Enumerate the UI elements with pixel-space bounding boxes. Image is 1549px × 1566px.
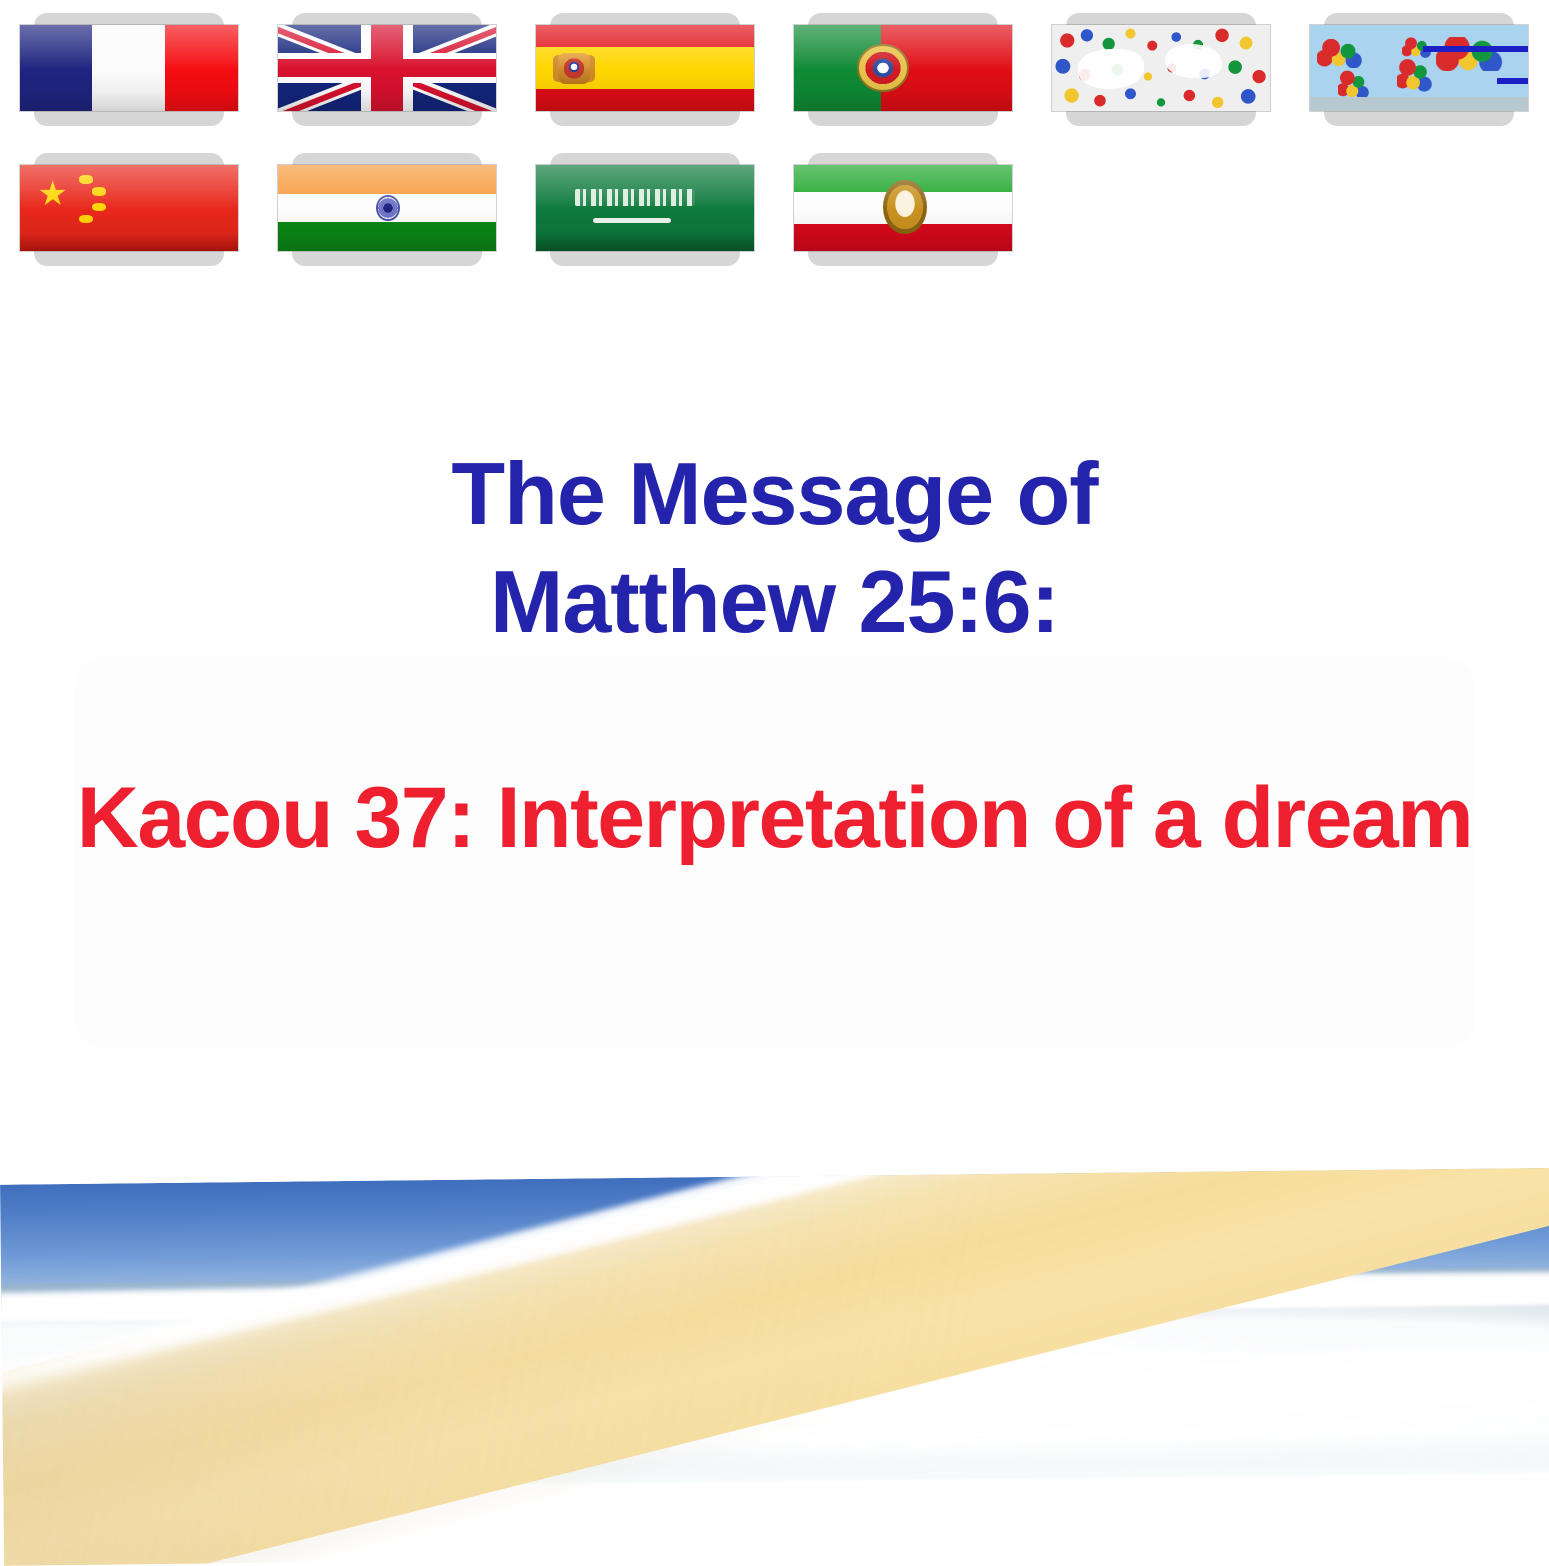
flag-china-icon: ★ (20, 165, 238, 251)
flag-india-icon (278, 165, 496, 251)
world-flags-icon (1052, 25, 1270, 111)
world-map-icon (1310, 25, 1528, 111)
language-link-english[interactable] (258, 0, 516, 140)
flag-uk-icon (278, 25, 496, 111)
language-link-chinese[interactable]: ★ (0, 140, 258, 280)
page-subtitle: Kacou 37: Interpretation of a dream (0, 768, 1549, 868)
language-flag-row: ★ (0, 140, 1549, 280)
language-link-world-map[interactable] (1290, 0, 1548, 140)
page-title: The Message of Matthew 25:6: (0, 440, 1549, 656)
language-link-persian[interactable] (774, 140, 1032, 280)
language-link-spanish[interactable] (516, 0, 774, 140)
language-flag-bar: ★ (0, 0, 1549, 280)
flag-iran-icon (794, 165, 1012, 251)
beach-ocean-photo (0, 1168, 1549, 1566)
flag-saudi-arabia-icon (536, 165, 754, 251)
flag-portugal-icon (794, 25, 1012, 111)
language-link-all-languages[interactable] (1032, 0, 1290, 140)
language-link-hindi[interactable] (258, 140, 516, 280)
language-link-portuguese[interactable] (774, 0, 1032, 140)
language-flag-row (0, 0, 1549, 140)
flag-france-icon (20, 25, 238, 111)
flag-spain-icon (536, 25, 754, 111)
language-link-french[interactable] (0, 0, 258, 140)
language-link-arabic[interactable] (516, 140, 774, 280)
